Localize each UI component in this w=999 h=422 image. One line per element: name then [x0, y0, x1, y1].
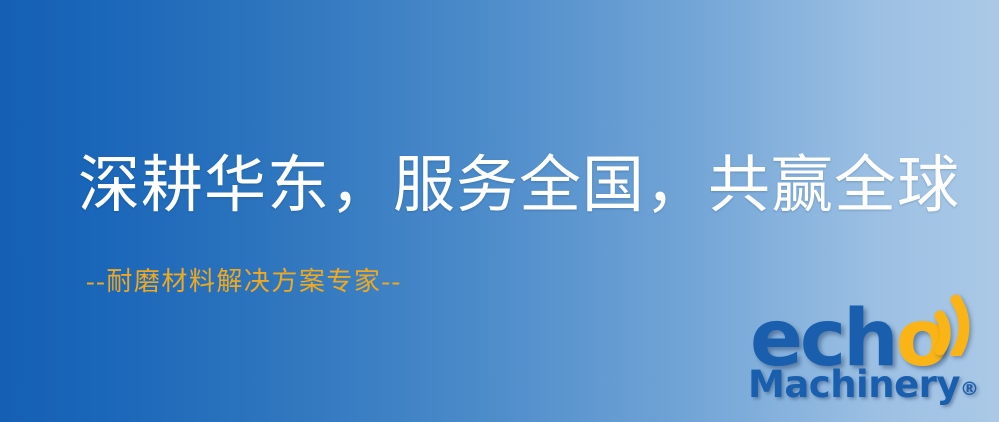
signal-waves-icon	[926, 294, 996, 356]
logo-tagline: Machinery®	[748, 366, 979, 403]
promo-banner: 深耕华东，服务全国，共赢全球 --耐磨材料解决方案专家-- echo Machi…	[0, 0, 999, 422]
company-logo[interactable]: echo Machinery®	[748, 296, 998, 422]
banner-subtitle: --耐磨材料解决方案专家--	[86, 266, 402, 297]
registered-trademark-symbol: ®	[960, 378, 979, 400]
logo-tagline-text: Machinery	[748, 363, 960, 406]
banner-headline: 深耕华东，服务全国，共赢全球	[78, 152, 960, 221]
